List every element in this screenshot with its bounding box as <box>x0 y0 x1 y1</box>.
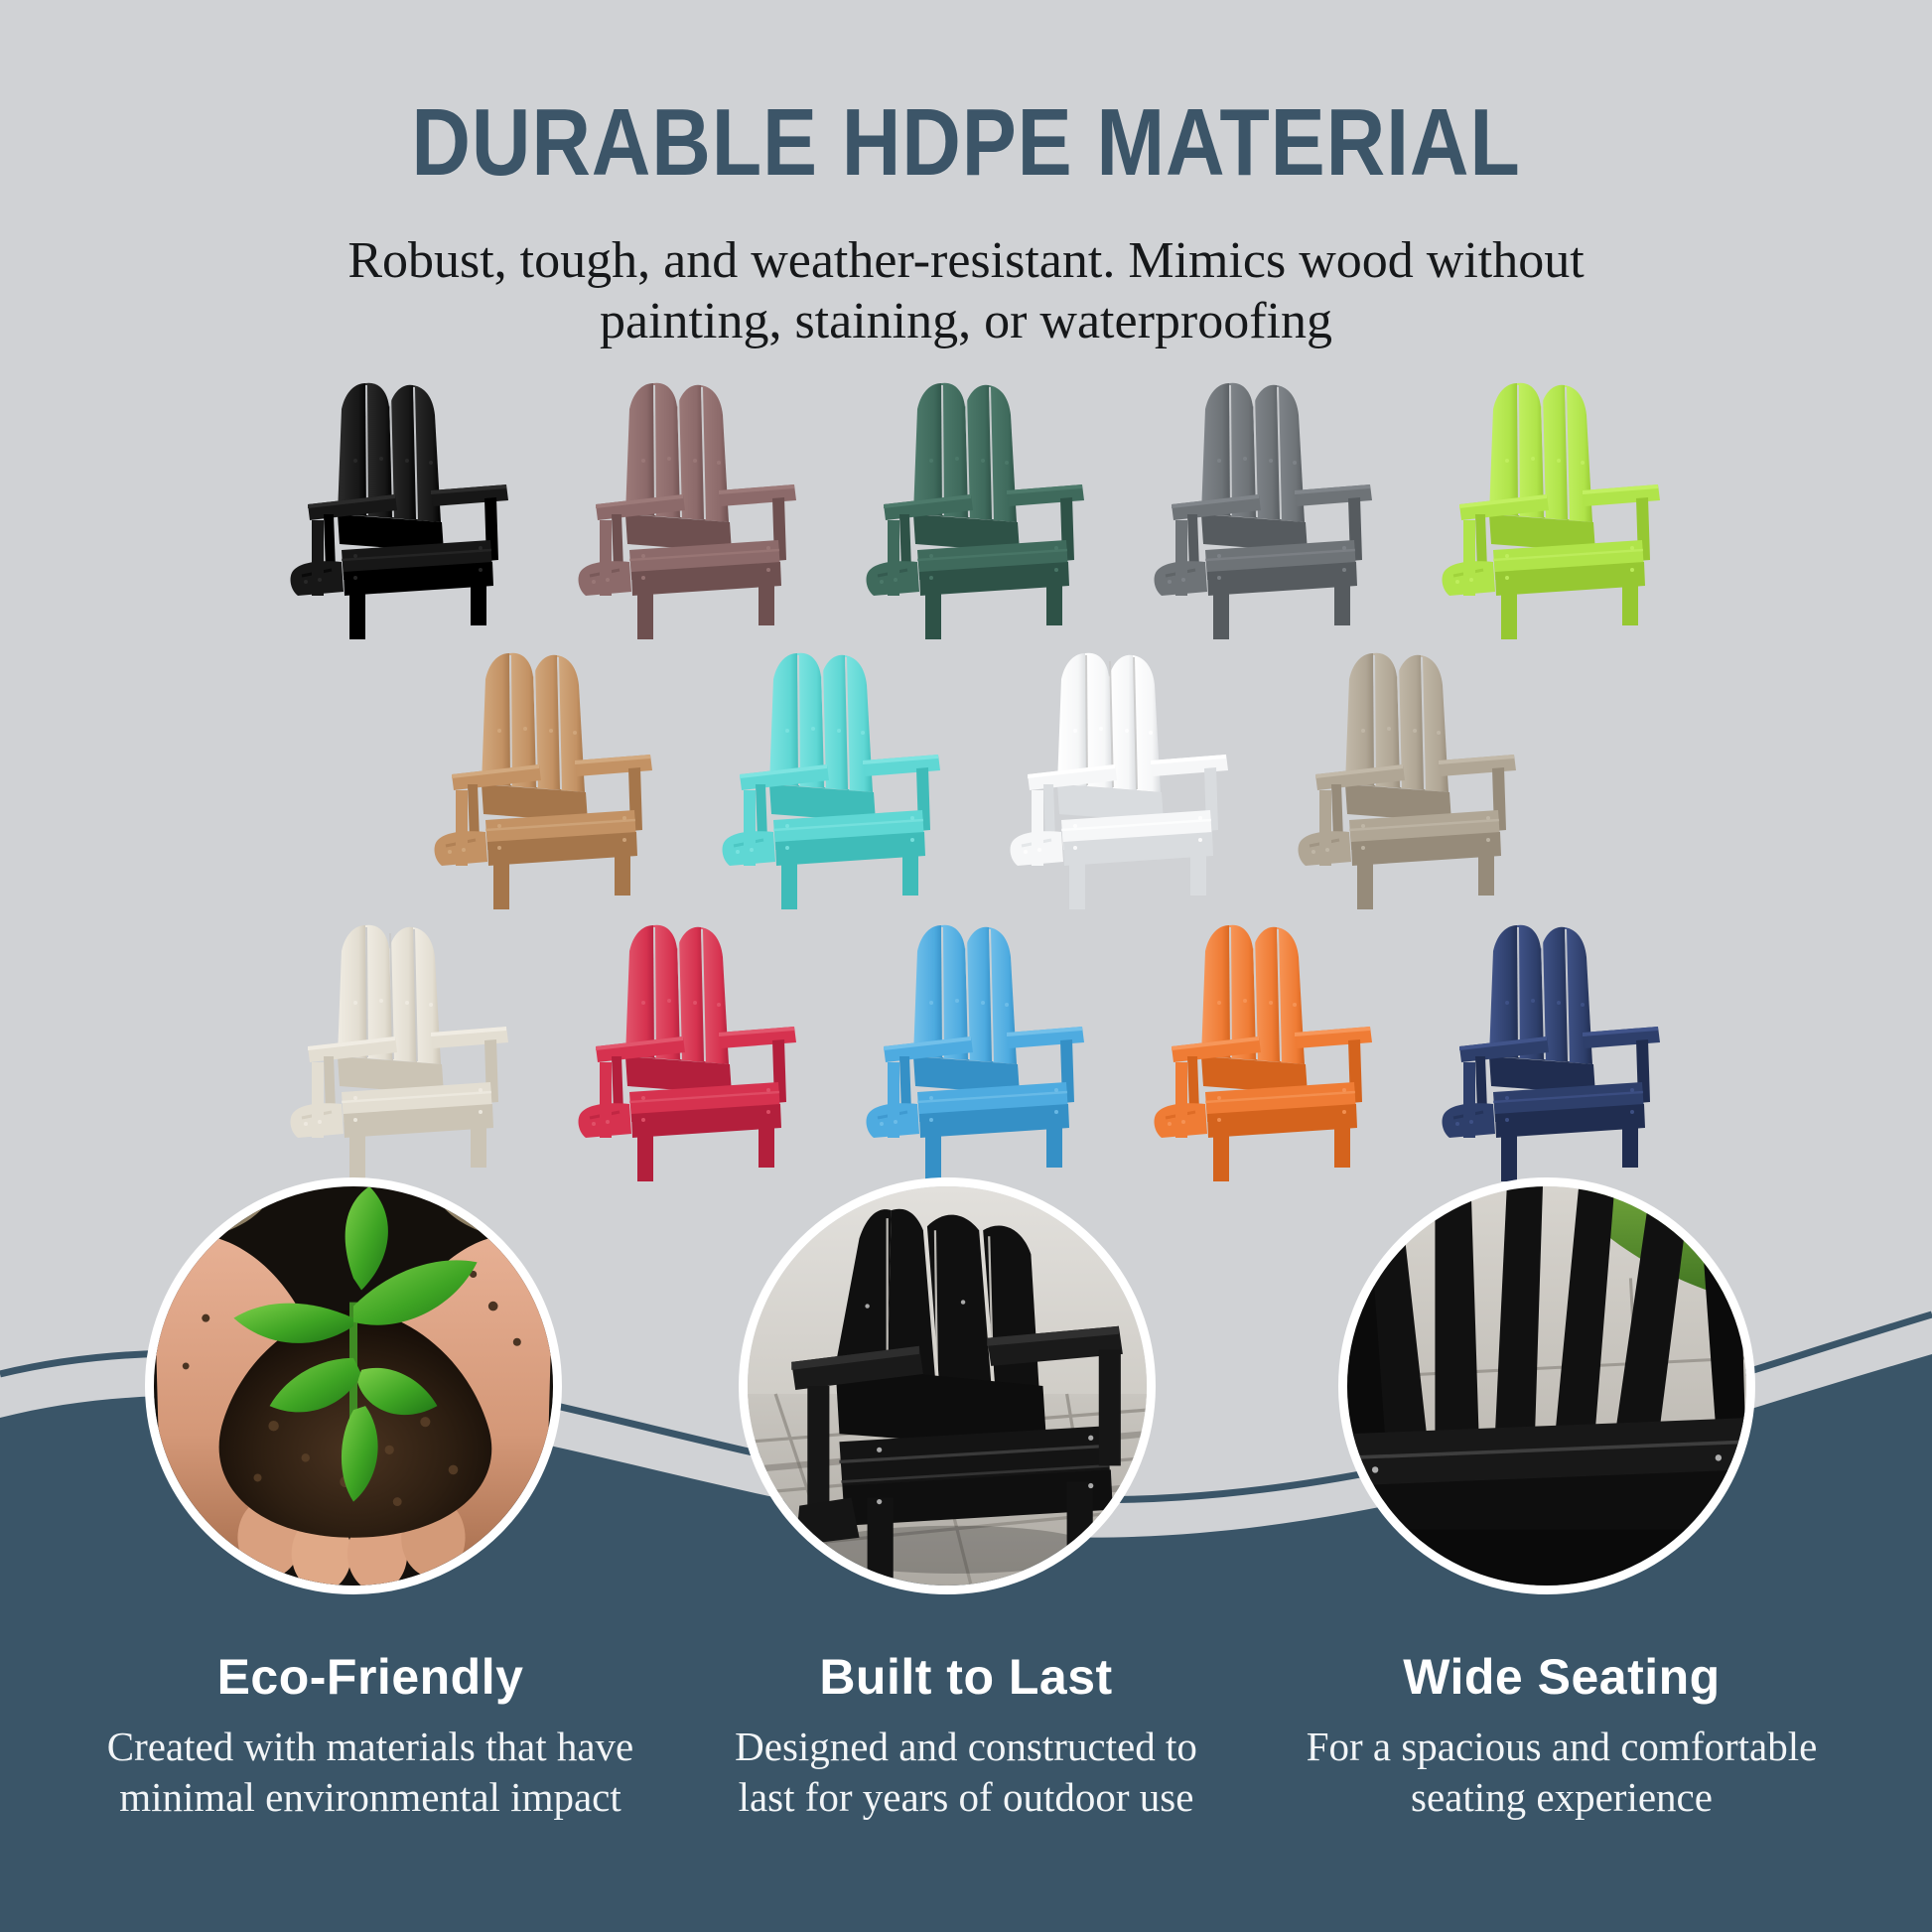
feature-photos <box>0 1177 1932 1594</box>
chair-swatch-teak-tan[interactable] <box>390 635 678 913</box>
photo-hands-holding-soil-seedling <box>145 1177 562 1594</box>
chair-row-2 <box>0 635 1932 913</box>
subtitle-line-1: Robust, tough, and weather-resistant. Mi… <box>347 232 1584 289</box>
chair-swatch-mauve-brown[interactable] <box>534 365 822 643</box>
feature-body-1-line-1: Created with materials that have <box>107 1724 634 1769</box>
chair-swatch-orange[interactable] <box>1110 907 1398 1185</box>
feature-title-3: Wide Seating <box>1272 1648 1852 1706</box>
header: DURABLE HDPE MATERIAL Robust, tough, and… <box>0 0 1932 352</box>
photo-black-adirondack-chair-on-patio <box>739 1177 1156 1594</box>
feature-body-2-line-1: Designed and constructed to <box>735 1724 1197 1769</box>
chair-swatch-navy-blue[interactable] <box>1398 907 1686 1185</box>
feature-block-1: Eco-Friendly Created with materials that… <box>72 1648 668 1824</box>
feature-body-3-line-1: For a spacious and comfortable <box>1307 1724 1818 1769</box>
chair-swatch-sky-blue[interactable] <box>822 907 1110 1185</box>
photo-wide-seat-closeup <box>1338 1177 1755 1594</box>
chair-swatch-turquoise[interactable] <box>678 635 966 913</box>
chair-swatch-dark-green[interactable] <box>822 365 1110 643</box>
page-subtitle: Robust, tough, and weather-resistant. Mi… <box>301 191 1631 352</box>
feature-title-2: Built to Last <box>676 1648 1256 1706</box>
chair-swatch-crimson-red[interactable] <box>534 907 822 1185</box>
feature-body-2: Designed and constructed to last for yea… <box>676 1722 1256 1824</box>
chair-swatch-black[interactable] <box>246 365 534 643</box>
feature-body-2-line-2: last for years of outdoor use <box>739 1774 1194 1820</box>
feature-body-1-line-2: minimal environmental impact <box>119 1774 621 1820</box>
infographic-canvas: DURABLE HDPE MATERIAL Robust, tough, and… <box>0 0 1932 1932</box>
page-title: DURABLE HDPE MATERIAL <box>135 0 1797 191</box>
chair-row-1 <box>0 365 1932 643</box>
feature-text-row: Eco-Friendly Created with materials that… <box>0 1648 1932 1824</box>
chair-swatch-ivory-cream[interactable] <box>246 907 534 1185</box>
feature-block-3: Wide Seating For a spacious and comforta… <box>1264 1648 1860 1824</box>
chair-swatch-gray[interactable] <box>1110 365 1398 643</box>
feature-body-3-line-2: seating experience <box>1411 1774 1713 1820</box>
feature-block-2: Built to Last Designed and constructed t… <box>668 1648 1264 1824</box>
chair-swatch-taupe-khaki[interactable] <box>1254 635 1542 913</box>
chair-color-grid <box>0 365 1932 1185</box>
feature-title-1: Eco-Friendly <box>80 1648 660 1706</box>
feature-body-1: Created with materials that have minimal… <box>80 1722 660 1824</box>
chair-swatch-lime-green[interactable] <box>1398 365 1686 643</box>
subtitle-line-2: painting, staining, or waterproofing <box>600 293 1332 349</box>
feature-body-3: For a spacious and comfortable seating e… <box>1272 1722 1852 1824</box>
chair-swatch-white[interactable] <box>966 635 1254 913</box>
chair-row-3 <box>0 907 1932 1185</box>
